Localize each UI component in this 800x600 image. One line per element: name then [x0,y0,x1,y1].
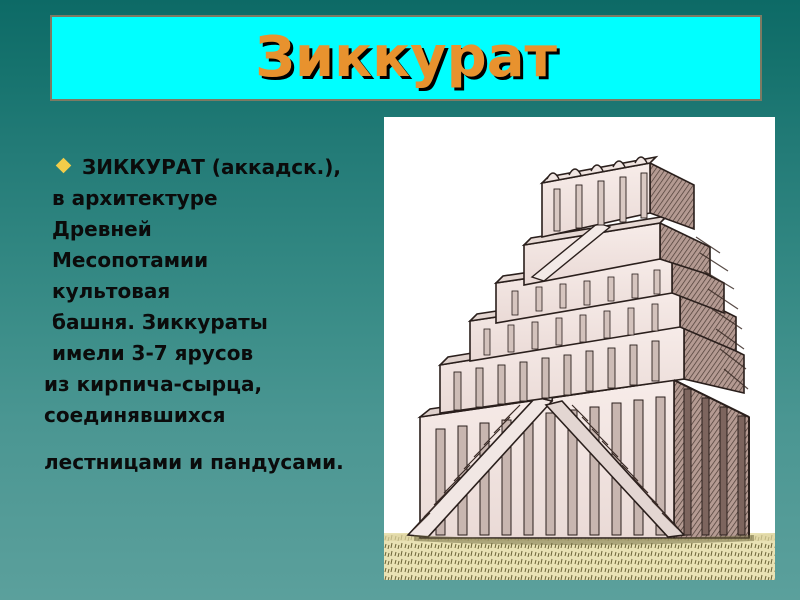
body-line: культовая [44,276,384,307]
body-line-text: имели 3-7 ярусов [52,341,253,365]
body-line: соединявшихся [44,400,384,431]
body-line-text: культовая [52,279,170,303]
body-line-text: соединявшихся [44,403,226,427]
diamond-bullet-icon [56,158,72,174]
slide-canvas: Зиккурат ЗИККУРАТ (аккадск.), в архитект… [0,0,800,600]
body-line-text: башня. Зиккураты [52,310,268,334]
bullet-list-item: ЗИККУРАТ (аккадск.), [44,152,384,183]
body-line: из кирпича-сырца, [44,369,384,400]
body-line-text: ЗИККУРАТ (аккадск.), [82,155,341,179]
body-line: Месопотамии [44,245,384,276]
body-line-text: Месопотамии [52,248,208,272]
title-banner: Зиккурат [50,15,762,101]
body-line-text: в архитектуре [52,186,218,210]
body-line: лестницами и пандусами. [44,447,384,478]
body-text-block: ЗИККУРАТ (аккадск.), в архитектуре Древн… [44,152,384,478]
body-line: имели 3-7 ярусов [44,338,384,369]
ziggurat-illustration [384,117,775,580]
body-line-text: Древней [52,217,152,241]
ziggurat-drawing [384,117,775,580]
page-title: Зиккурат [255,30,557,86]
body-line: в архитектуре [44,183,384,214]
body-line: башня. Зиккураты [44,307,384,338]
body-line-text: лестницами и пандусами. [44,450,344,474]
body-line: Древней [44,214,384,245]
body-line-text: из кирпича-сырца, [44,372,262,396]
